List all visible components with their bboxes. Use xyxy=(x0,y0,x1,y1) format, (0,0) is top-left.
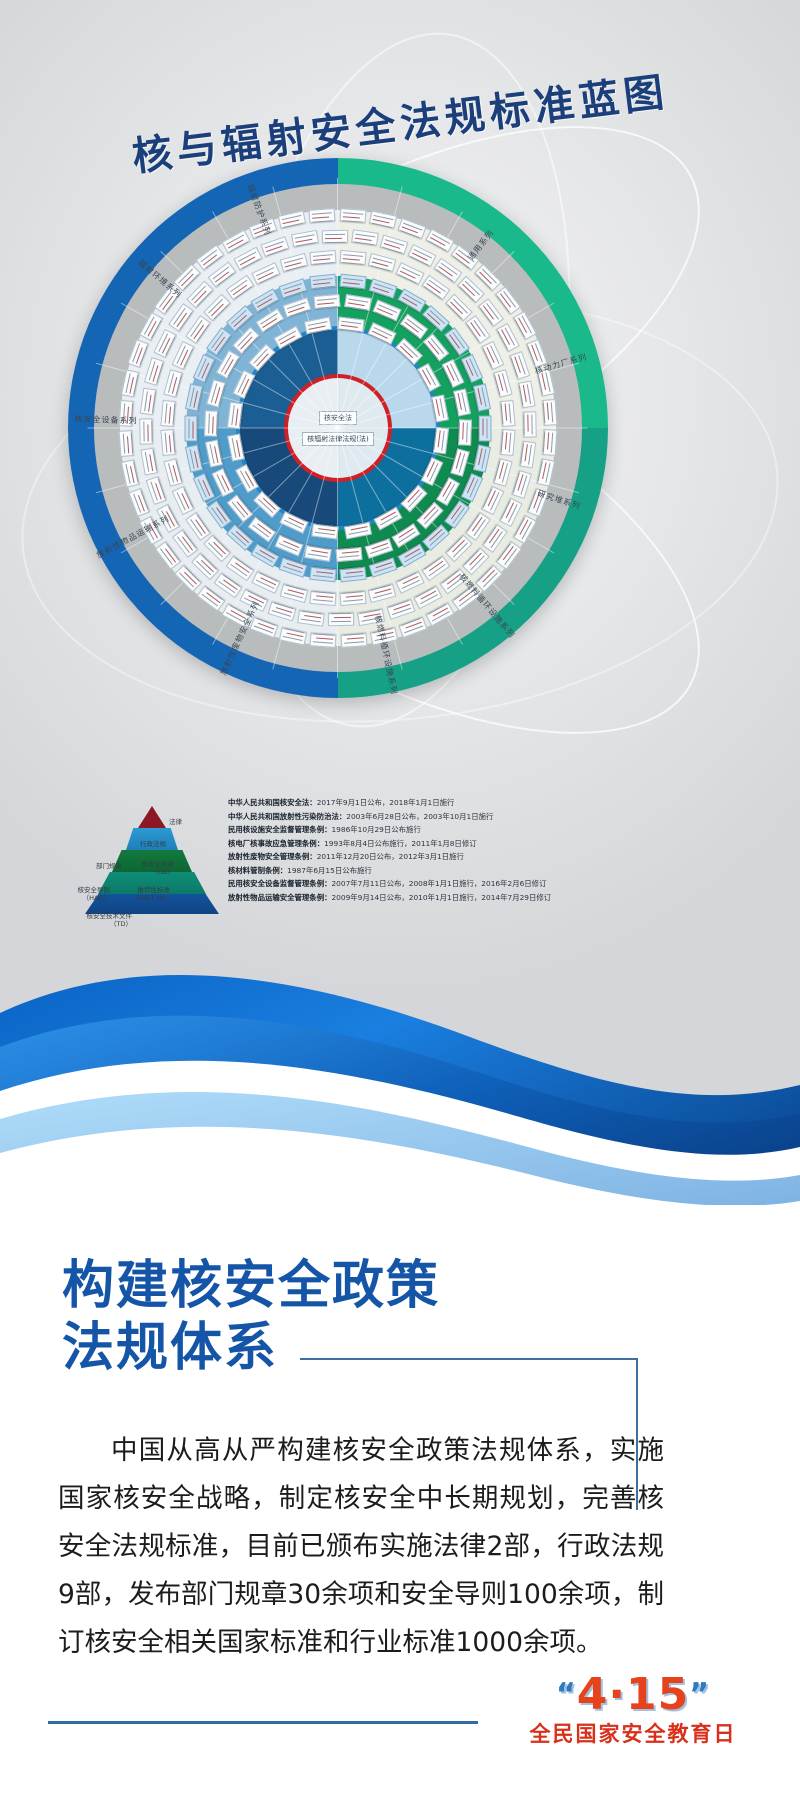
footer-divider xyxy=(48,1721,478,1724)
legend-item-detail: 2003年6月28日公布，2003年10月1日施行 xyxy=(346,812,493,821)
legend-item: 民用核设施安全监督管理条例：1986年10月29日公布施行 xyxy=(228,823,628,837)
regulation-blueprint-wheel: 核安全法 核辐射法律法规(法) 通用系列核动力厂系列研究堆系列核燃料循环设施系列… xyxy=(68,158,608,698)
legend-item: 核电厂核事故应急管理条例：1993年8月4日公布施行，2011年1月8日修订 xyxy=(228,837,628,851)
logo-subtitle: 全民国家安全教育日 xyxy=(508,1718,758,1748)
regulation-card xyxy=(314,294,341,309)
legend-item-detail: 2011年12月20日公布，2012年3月1日施行 xyxy=(317,852,464,861)
legend-item: 中华人民共和国放射性污染防治法：2003年6月28日公布，2003年10月1日施… xyxy=(228,810,628,824)
quote-open: “ xyxy=(556,1677,577,1712)
regulation-card xyxy=(312,523,339,539)
regulation-card xyxy=(310,633,337,648)
headline-line-2: 法规体系 xyxy=(62,1317,440,1379)
legend-item-name: 核电厂核事故应急管理条例： xyxy=(228,839,324,848)
legend-item-name: 民用核设施安全监督管理条例： xyxy=(228,825,331,834)
legend-item-name: 民用核安全设备监督管理条例： xyxy=(228,879,331,888)
regulation-card xyxy=(479,415,492,441)
legend-item: 放射性废物安全管理条例：2011年12月20日公布，2012年3月1日施行 xyxy=(228,850,628,864)
regulation-card xyxy=(118,430,133,457)
national-security-education-day-logo: “4·15” 全民国家安全教育日 xyxy=(508,1672,758,1764)
regulation-card xyxy=(309,566,336,582)
logo-number: 4·15 xyxy=(577,1669,690,1720)
legend-item-detail: 2007年7月11日公布，2008年1月1日施行，2016年2月6日修订 xyxy=(331,879,546,888)
pyramid-tier-label: 法律 xyxy=(169,818,182,826)
regulation-card xyxy=(543,429,558,456)
headline-divider xyxy=(300,1358,638,1360)
regulation-card xyxy=(523,412,536,438)
body-paragraph: 中国从高从严构建核安全政策法规体系，实施国家核安全战略，制定核安全中长期规划，完… xyxy=(58,1427,664,1667)
legend-item: 中华人民共和国核安全法：2017年9月1日公布，2018年1月1日施行 xyxy=(228,796,628,810)
legend-item-name: 中华人民共和国核安全法： xyxy=(228,798,317,807)
regulation-card xyxy=(160,429,175,456)
regulation-card xyxy=(185,415,198,441)
legend-item-name: 核材料管制条例： xyxy=(228,866,287,875)
pyramid-tier-label: 核安全标准（GB） xyxy=(142,860,175,876)
pyramid-tier-label: 行政法规 xyxy=(140,840,166,848)
legend-item-detail: 2017年9月1日公布，2018年1月1日施行 xyxy=(317,798,455,807)
logo-415: “4·15” xyxy=(508,1672,758,1718)
legend-item-detail: 1987年6月15日公布施行 xyxy=(287,866,372,875)
regulation-card xyxy=(139,418,152,444)
legend-item-detail: 1993年8月4日公布施行，2011年1月8日修订 xyxy=(324,839,477,848)
regulation-card xyxy=(160,400,175,427)
regulation-card xyxy=(310,250,337,265)
regulation-card xyxy=(339,250,366,265)
pyramid-tier-label: 部门规章 xyxy=(96,862,122,870)
legend-item-detail: 1986年10月29日公布施行 xyxy=(331,825,420,834)
blue-wave-decoration xyxy=(0,895,800,1205)
legend-item-name: 中华人民共和国放射性污染防治法： xyxy=(228,812,346,821)
regulation-card xyxy=(322,229,348,242)
quote-close: ” xyxy=(689,1677,710,1712)
regulation-card xyxy=(310,591,337,606)
legend-item: 民用核安全设备监督管理条例：2007年7月11日公布，2008年1月1日施行，2… xyxy=(228,877,628,891)
regulation-card xyxy=(309,208,336,223)
regulation-card xyxy=(328,613,354,626)
regulation-card xyxy=(458,419,472,445)
page-title: 构建核安全政策 法规体系 xyxy=(62,1255,440,1379)
legend-list: 中华人民共和国核安全法：2017年9月1日公布，2018年1月1日施行中华人民共… xyxy=(228,796,628,904)
headline-line-1: 构建核安全政策 xyxy=(62,1255,440,1317)
regulation-card xyxy=(339,591,366,606)
legend-item-name: 放射性废物安全管理条例： xyxy=(228,852,317,861)
regulation-card xyxy=(340,566,367,582)
regulation-card xyxy=(204,410,218,436)
regulation-card xyxy=(340,633,367,648)
regulation-card xyxy=(339,208,366,223)
wave-svg xyxy=(0,895,800,1205)
regulation-card xyxy=(501,429,516,456)
pyramid-tier-law xyxy=(138,806,166,828)
regulation-card xyxy=(501,400,516,427)
wheel-sector-label: 核安全设备系列 xyxy=(74,413,137,426)
regulation-card xyxy=(227,402,243,429)
regulation-card xyxy=(335,547,362,562)
legend-item: 核材料管制条例：1987年6月15日公布施行 xyxy=(228,864,628,878)
regulation-card xyxy=(543,399,558,426)
